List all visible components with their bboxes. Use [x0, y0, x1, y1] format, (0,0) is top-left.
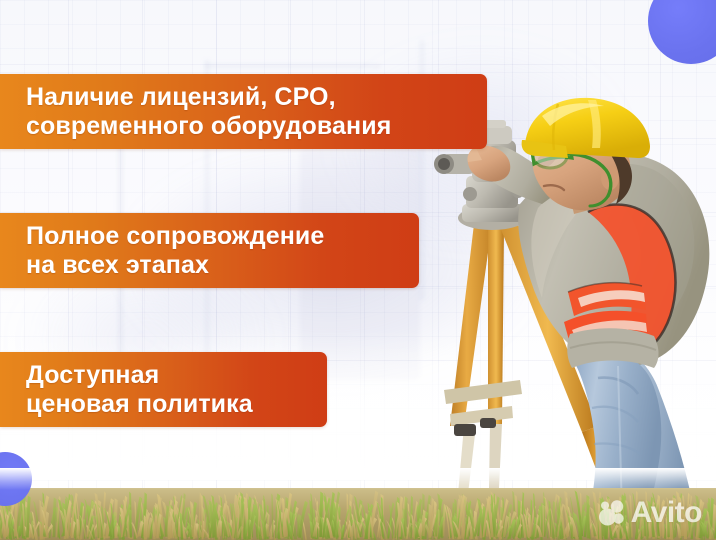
feature-banner-licenses-text: Наличие лицензий, СРО, современного обор…: [26, 83, 391, 140]
grass-top-fade: [0, 468, 716, 490]
ghost-crane-shape: [205, 64, 380, 68]
feature-banner-support: Полное сопровождение на всех этапах: [0, 213, 419, 288]
surveyor-photograph: [392, 96, 716, 516]
avito-watermark: Avito: [598, 496, 702, 530]
feature-banner-support-text: Полное сопровождение на всех этапах: [26, 222, 324, 279]
avito-logo-icon: [598, 499, 626, 527]
feature-banner-pricing: Доступная ценовая политика: [0, 352, 327, 427]
avito-brand-text: Avito: [631, 496, 702, 530]
feature-banner-pricing-text: Доступная ценовая политика: [26, 361, 253, 418]
banner-image: Наличие лицензий, СРО, современного обор…: [0, 0, 716, 540]
feature-banner-licenses: Наличие лицензий, СРО, современного обор…: [0, 74, 487, 149]
